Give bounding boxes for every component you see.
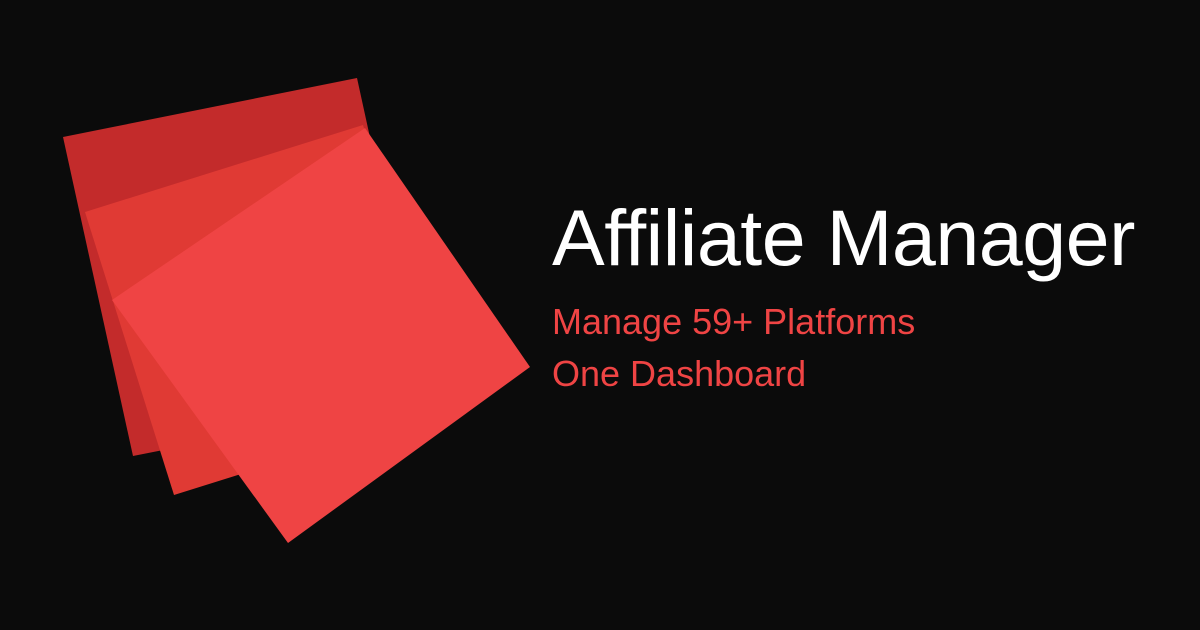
stacked-cards-artwork [0,0,600,630]
subtitle-line-dashboard: One Dashboard [552,348,1152,400]
subtitle-line-platforms: Manage 59+ Platforms [552,296,1152,348]
hero-text-block: Affiliate Manager Manage 59+ Platforms O… [552,196,1152,400]
page-title: Affiliate Manager [552,196,1152,280]
subtitle-group: Manage 59+ Platforms One Dashboard [552,296,1152,400]
og-card-canvas: Affiliate Manager Manage 59+ Platforms O… [0,0,1200,630]
